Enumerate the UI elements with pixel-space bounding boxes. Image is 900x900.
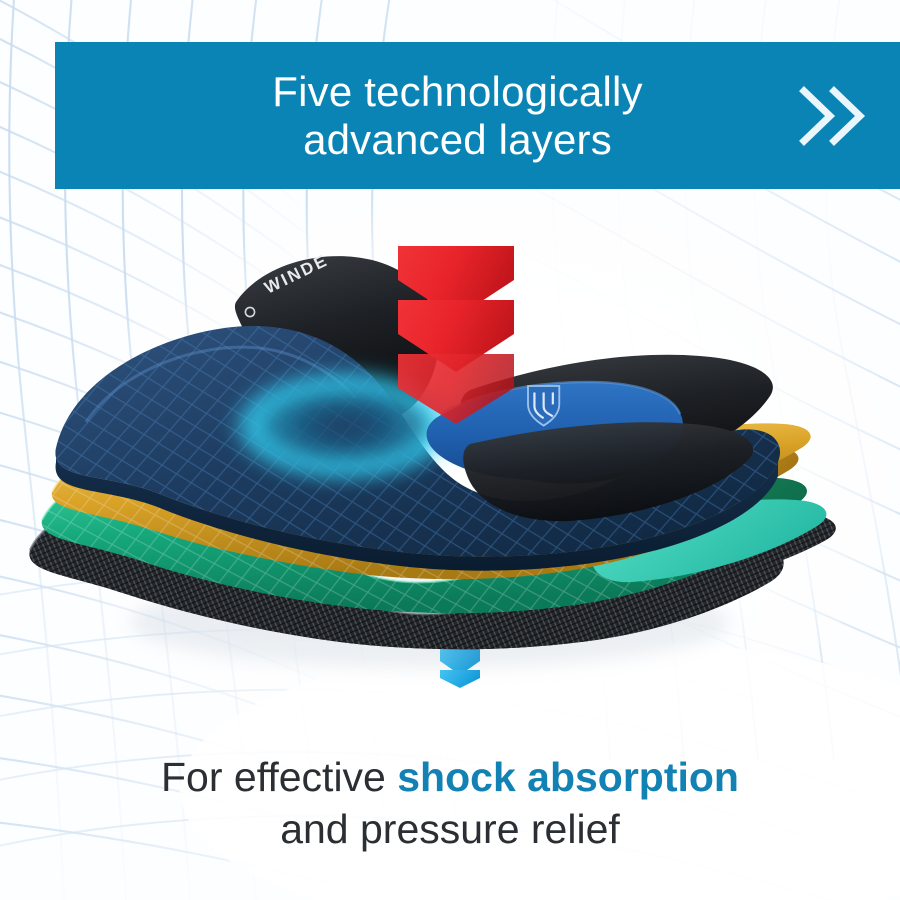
caption-line-1: For effective shock absorption: [0, 752, 900, 804]
double-chevron-right-icon: [798, 85, 868, 147]
caption-line-2: and pressure relief: [0, 804, 900, 856]
caption-highlight: shock absorption: [397, 754, 739, 800]
marketing-slide: Five technologically advanced layers: [0, 0, 900, 900]
header-banner: Five technologically advanced layers: [55, 42, 900, 189]
caption-prefix: For effective: [161, 754, 397, 800]
banner-title: Five technologically advanced layers: [202, 68, 753, 162]
caption-block: For effective shock absorption and press…: [0, 752, 900, 855]
impact-force-chevrons: [398, 246, 514, 424]
